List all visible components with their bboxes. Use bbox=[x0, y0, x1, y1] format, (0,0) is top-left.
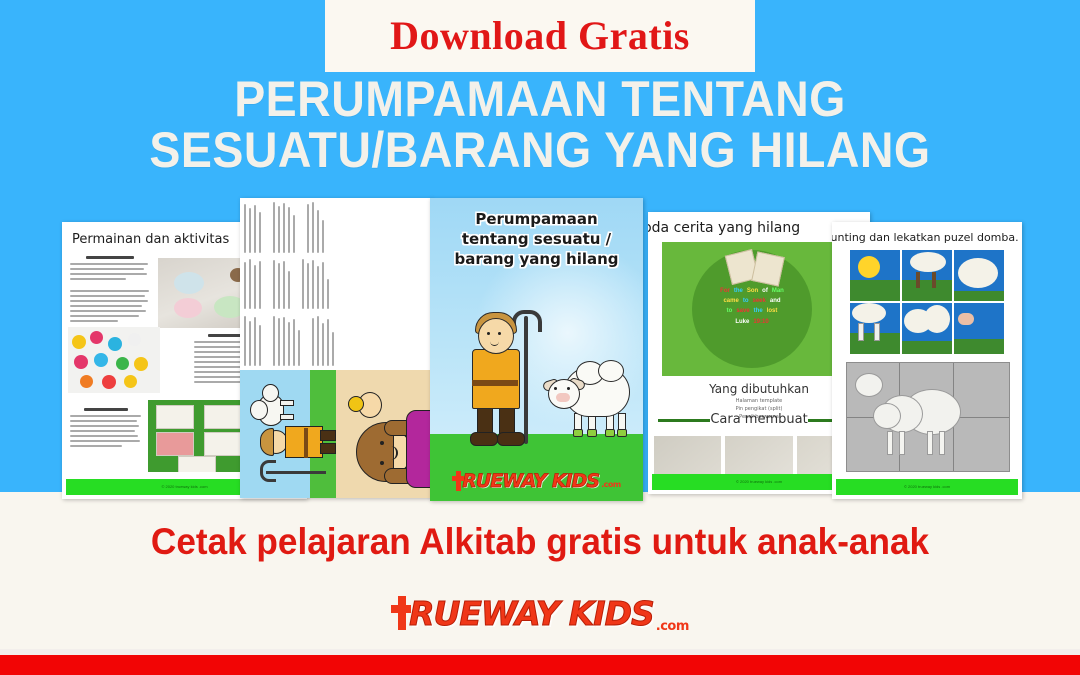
cover-title: Perumpamaan tentang sesuatu / barang yan… bbox=[436, 210, 637, 269]
puzzle-piece[interactable] bbox=[850, 250, 900, 301]
lesson-text-column bbox=[244, 201, 428, 253]
poster-canvas: Download Gratis PERUMPAMAAN TENTANG SESU… bbox=[0, 0, 1080, 675]
lesson-text-column bbox=[244, 258, 428, 310]
cover-title-line-3: barang yang hilang bbox=[436, 250, 637, 270]
story-wheel-verse: FortheSonofMan cametoseekand tosavethelo… bbox=[700, 286, 804, 327]
cover-brand-kids: KIDS bbox=[552, 472, 599, 491]
puzzle-piece[interactable] bbox=[902, 250, 952, 301]
puzzle-piece[interactable] bbox=[954, 250, 1004, 301]
cover-brand-dotcom: .com bbox=[601, 480, 621, 489]
card-cover[interactable]: Perumpamaan tentang sesuatu / barang yan… bbox=[430, 198, 643, 501]
cover-title-line-1: Perumpamaan bbox=[436, 210, 637, 230]
story-wheel-disc: FortheSonofMan cametoseekand tosavethelo… bbox=[692, 250, 812, 368]
lesson-text-column bbox=[244, 314, 428, 366]
card-sheep-puzzle-title: Gunting dan lekatkan puzel domba. bbox=[832, 231, 1019, 244]
page-title-line-1: PERUMPAMAAN TENTANG bbox=[38, 74, 1042, 125]
sheep-puzzle-template bbox=[846, 362, 1010, 472]
illustration-shepherd-sheep bbox=[240, 370, 336, 498]
photo-story-wheel: FortheSonofMan cametoseekand tosavethelo… bbox=[662, 242, 856, 376]
card-sheep-puzzle-footer: © 2020 trueway kids .com bbox=[836, 479, 1018, 495]
sheep-puzzle-grid bbox=[850, 250, 1004, 354]
shepherd-illustration bbox=[464, 306, 536, 448]
download-badge-label: Download Gratis bbox=[390, 16, 690, 56]
sheep-illustration bbox=[548, 363, 630, 441]
cover-brand-rueway: RUEWAY bbox=[462, 472, 546, 491]
card-sheep-puzzle[interactable]: Gunting dan lekatkan puzel domba. bbox=[832, 222, 1022, 499]
puzzle-piece[interactable] bbox=[902, 303, 952, 354]
illustration-woman-coin bbox=[336, 370, 432, 498]
card-lesson-text[interactable] bbox=[240, 198, 432, 498]
cross-icon bbox=[391, 596, 411, 630]
download-badge: Download Gratis bbox=[325, 0, 755, 72]
bottom-red-bar bbox=[0, 655, 1080, 675]
brand-kids: KIDS bbox=[569, 597, 654, 630]
card-sheep-puzzle-copyright: © 2020 trueway kids .com bbox=[836, 479, 1018, 495]
cover-title-line-2: tentang sesuatu / bbox=[436, 230, 637, 250]
puzzle-piece[interactable] bbox=[850, 303, 900, 354]
photo-balloons bbox=[68, 327, 160, 393]
text-block-a bbox=[70, 256, 150, 325]
brand-dotcom: .com bbox=[656, 619, 689, 634]
text-block-c bbox=[70, 408, 142, 450]
lesson-text-columns bbox=[244, 201, 428, 366]
cross-icon bbox=[452, 471, 464, 491]
card-games-activities-title: Permainan dan aktivitas bbox=[72, 232, 229, 247]
page-title-line-2: SESUATU/BARANG YANG HILANG bbox=[38, 125, 1042, 176]
page-title: PERUMPAMAAN TENTANG SESUATU/BARANG YANG … bbox=[38, 74, 1042, 176]
puzzle-piece[interactable] bbox=[954, 303, 1004, 354]
cover-brand-logo: RUEWAY KIDS .com bbox=[430, 471, 643, 491]
card-lesson-text-rotated-page bbox=[240, 198, 432, 498]
brand-logo[interactable]: RUEWAY KIDS .com bbox=[0, 588, 1080, 638]
tagline: Cetak pelajaran Alkitab gratis untuk ana… bbox=[27, 523, 1053, 560]
card-story-wheel-title: Roda cerita yang hilang bbox=[648, 220, 800, 236]
brand-rueway: RUEWAY bbox=[409, 597, 559, 630]
